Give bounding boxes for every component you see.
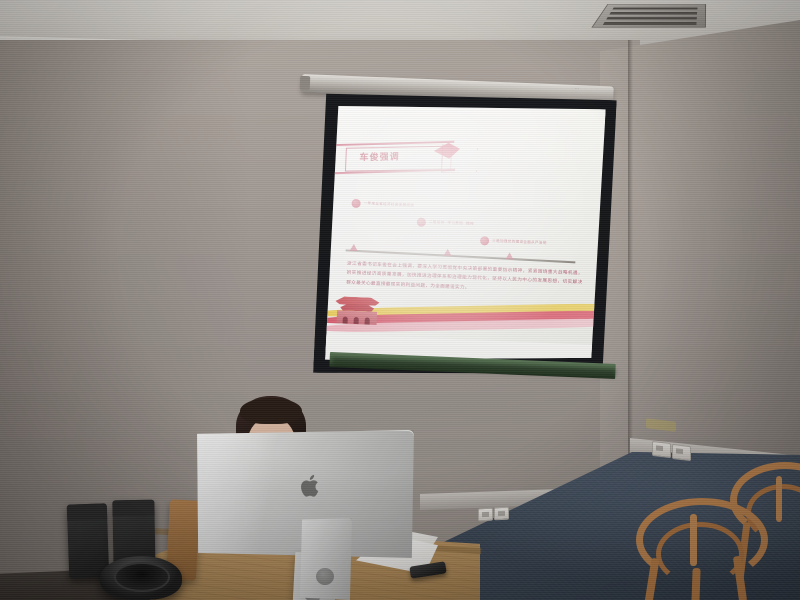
monitor-stand-cable-hole (316, 568, 334, 585)
list-item: 一年来全省经济社会发展成绩 (351, 199, 414, 211)
bullet-dot-icon (417, 217, 426, 226)
apple-logo-icon (300, 473, 322, 499)
projected-slide: 车俊强调 一年来全省经济社会发展成绩 二是坚持··学习贯彻··精神 三是加强党的… (325, 98, 606, 371)
wishbone-chair[interactable] (636, 492, 760, 600)
bullet-dot-icon (480, 236, 489, 245)
power-outlet[interactable] (672, 444, 691, 461)
bullet-label: 二是坚持··学习贯彻··精神 (429, 220, 474, 227)
timeline-marker-icon (505, 252, 513, 259)
list-item: 二是坚持··学习贯彻··精神 (417, 217, 474, 228)
slide-body-paragraph: 浙江省委书记车俊在会上强调，要深入学习贯彻党中央决策部署的重要指示精神，紧紧围绕… (346, 259, 583, 297)
subwoofer-driver (114, 562, 170, 592)
power-outlet[interactable] (478, 508, 493, 522)
monitor-stand[interactable] (300, 518, 352, 600)
bullet-label: 三是加强党的建设全面从严治党 (492, 239, 547, 246)
ceiling-vent-icon (591, 4, 706, 28)
timeline-marker-icon (443, 249, 451, 256)
roller-brand-mark: ··· (575, 85, 601, 92)
power-outlet[interactable] (494, 507, 509, 521)
power-outlet[interactable] (652, 441, 671, 458)
roller-end-cap (300, 76, 311, 90)
slide-title-text: 车俊强调 (359, 149, 400, 163)
room-photo-scene: ··· 车俊强调 一年来全省经济社会发展成绩 二是坚持· (0, 0, 800, 600)
bullet-dot-icon (351, 199, 360, 208)
timeline-marker-icon (350, 244, 358, 251)
slide-bullet-group: 一年来全省经济社会发展成绩 二是坚持··学习贯彻··精神 三是加强党的建设全面从… (350, 199, 588, 255)
slide-title-banner: 车俊强调 (345, 138, 476, 177)
bullet-label: 一年来全省经济社会发展成绩 (363, 201, 414, 208)
list-item: 三是加强党的建设全面从严治党 (480, 236, 547, 248)
speaker-left[interactable] (67, 503, 110, 578)
tiananmen-gate-icon (332, 296, 381, 328)
person-hair-fringe (240, 398, 302, 424)
